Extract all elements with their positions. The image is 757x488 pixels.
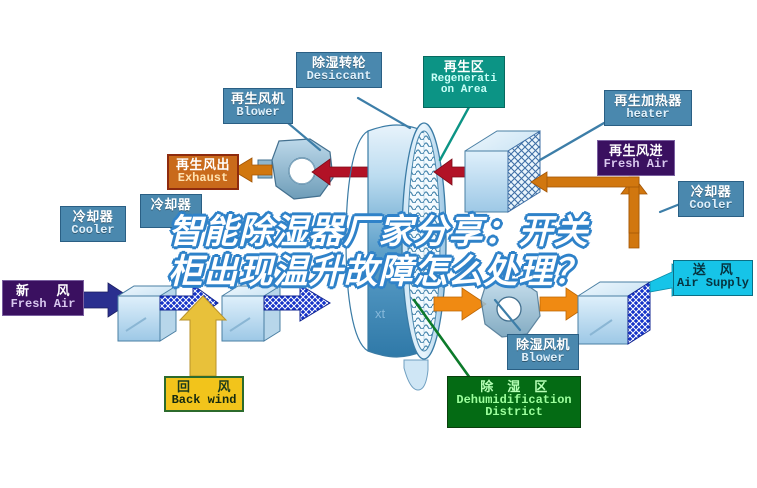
label-dehum-district: 除 湿 区 Dehumidification District bbox=[447, 376, 581, 428]
label-regen-exhaust-cn: 再生风出 bbox=[169, 158, 237, 172]
cooler-unit-2 bbox=[222, 286, 280, 341]
label-regen-blower-en: Blower bbox=[224, 106, 292, 119]
label-regen-blower: 再生风机 Blower bbox=[223, 88, 293, 124]
label-cooler-left-2-cn: 冷却器 bbox=[141, 198, 201, 212]
label-cooler-right-en: Cooler bbox=[679, 199, 743, 212]
label-regen-area-cn: 再生区 bbox=[424, 60, 504, 74]
title-line-2: 柜出现温升故障怎么处理？ bbox=[0, 252, 757, 292]
label-dehum-blower: 除湿风机 Blower bbox=[507, 334, 579, 370]
label-regen-area-en-2: on Area bbox=[424, 85, 504, 97]
regen-heater-shape bbox=[465, 131, 540, 212]
label-regen-exhaust-en: Exhaust bbox=[169, 172, 237, 185]
label-dehum-blower-en: Blower bbox=[508, 352, 578, 365]
label-desiccant-wheel-en: Desiccant bbox=[297, 70, 381, 83]
label-desiccant-wheel: 除湿转轮 Desiccant bbox=[296, 52, 382, 88]
label-desiccant-wheel-cn: 除湿转轮 bbox=[297, 56, 381, 70]
label-regen-exhaust: 再生风出 Exhaust bbox=[167, 154, 239, 190]
svg-text:xt: xt bbox=[375, 306, 386, 321]
label-regen-heater-cn: 再生加热器 bbox=[605, 94, 691, 108]
label-cooler-right-cn: 冷却器 bbox=[679, 185, 743, 199]
label-back-wind-en: Back wind bbox=[166, 394, 242, 407]
label-back-wind-cn: 回 风 bbox=[166, 380, 242, 394]
label-dehum-district-cn: 除 湿 区 bbox=[448, 380, 580, 394]
label-regen-fresh-air-en: Fresh Air bbox=[598, 158, 674, 171]
label-regen-fresh-air-cn: 再生风进 bbox=[598, 144, 674, 158]
label-regen-heater: 再生加热器 heater bbox=[604, 90, 692, 126]
title-overlay: 智能除湿器厂家分享：开关 柜出现温升故障怎么处理？ bbox=[0, 212, 757, 292]
label-regen-area: 再生区 Regenerati on Area bbox=[423, 56, 505, 108]
diagram-canvas: xt bbox=[0, 0, 757, 488]
label-back-wind: 回 风 Back wind bbox=[164, 376, 244, 412]
label-regen-fresh-air: 再生风进 Fresh Air bbox=[597, 140, 675, 176]
cooler-unit-1 bbox=[118, 286, 176, 341]
label-regen-blower-cn: 再生风机 bbox=[224, 92, 292, 106]
title-line-1: 智能除湿器厂家分享：开关 bbox=[0, 212, 757, 252]
label-dehum-blower-cn: 除湿风机 bbox=[508, 338, 578, 352]
label-fresh-air-in-en: Fresh Air bbox=[3, 298, 83, 311]
label-dehum-district-en-2: District bbox=[448, 406, 580, 419]
label-regen-heater-en: heater bbox=[605, 108, 691, 121]
